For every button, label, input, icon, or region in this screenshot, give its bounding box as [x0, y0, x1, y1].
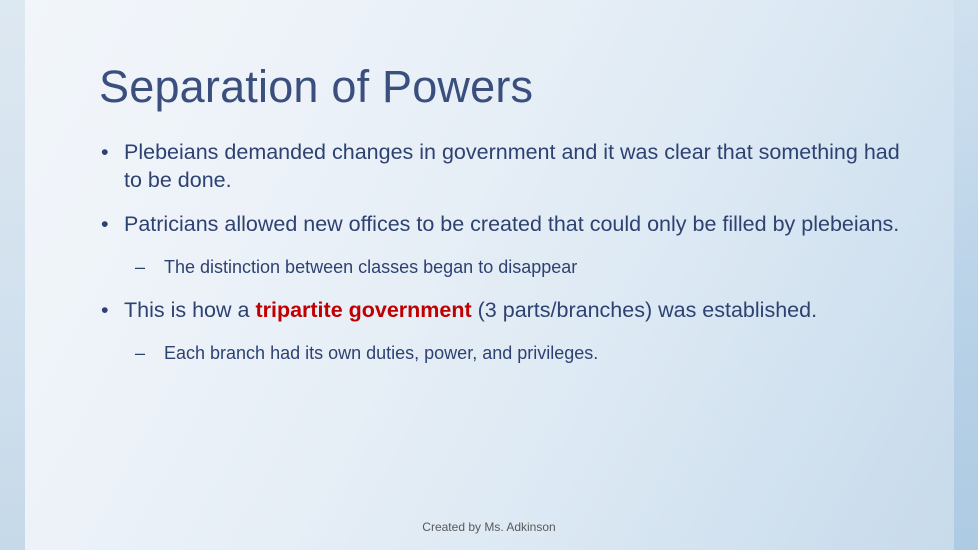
bullet-text-after: (3 parts/branches) was established. [472, 298, 817, 322]
sub-bullet-text: The distinction between classes began to… [164, 257, 577, 277]
bullet-text: Plebeians demanded changes in government… [124, 140, 900, 192]
bullet-item-3: • This is how a tripartite government (3… [97, 296, 909, 324]
sub-bullet-text: Each branch had its own duties, power, a… [164, 343, 598, 363]
bullet-item-1: • Plebeians demanded changes in governme… [97, 138, 909, 194]
left-edge-band [0, 0, 25, 550]
bullet-text-before: This is how a [124, 298, 255, 322]
bullet-text: Patricians allowed new offices to be cre… [124, 212, 899, 236]
bullet-dash-icon: – [135, 254, 145, 280]
bullet-dot-icon: • [101, 296, 109, 324]
bullet-dash-icon: – [135, 340, 145, 366]
presentation-slide: Separation of Powers • Plebeians demande… [0, 0, 978, 550]
sub-bullet-item-1: – The distinction between classes began … [97, 254, 909, 280]
bullet-item-2: • Patricians allowed new offices to be c… [97, 210, 909, 238]
bullet-dot-icon: • [101, 210, 109, 238]
sub-bullet-item-2: – Each branch had its own duties, power,… [97, 340, 909, 366]
slide-footer-credit: Created by Ms. Adkinson [0, 519, 978, 535]
slide-title: Separation of Powers [99, 58, 533, 116]
bullet-dot-icon: • [101, 138, 109, 166]
right-edge-band [954, 0, 978, 550]
slide-body: • Plebeians demanded changes in governme… [97, 138, 909, 382]
highlighted-term: tripartite government [255, 298, 471, 322]
